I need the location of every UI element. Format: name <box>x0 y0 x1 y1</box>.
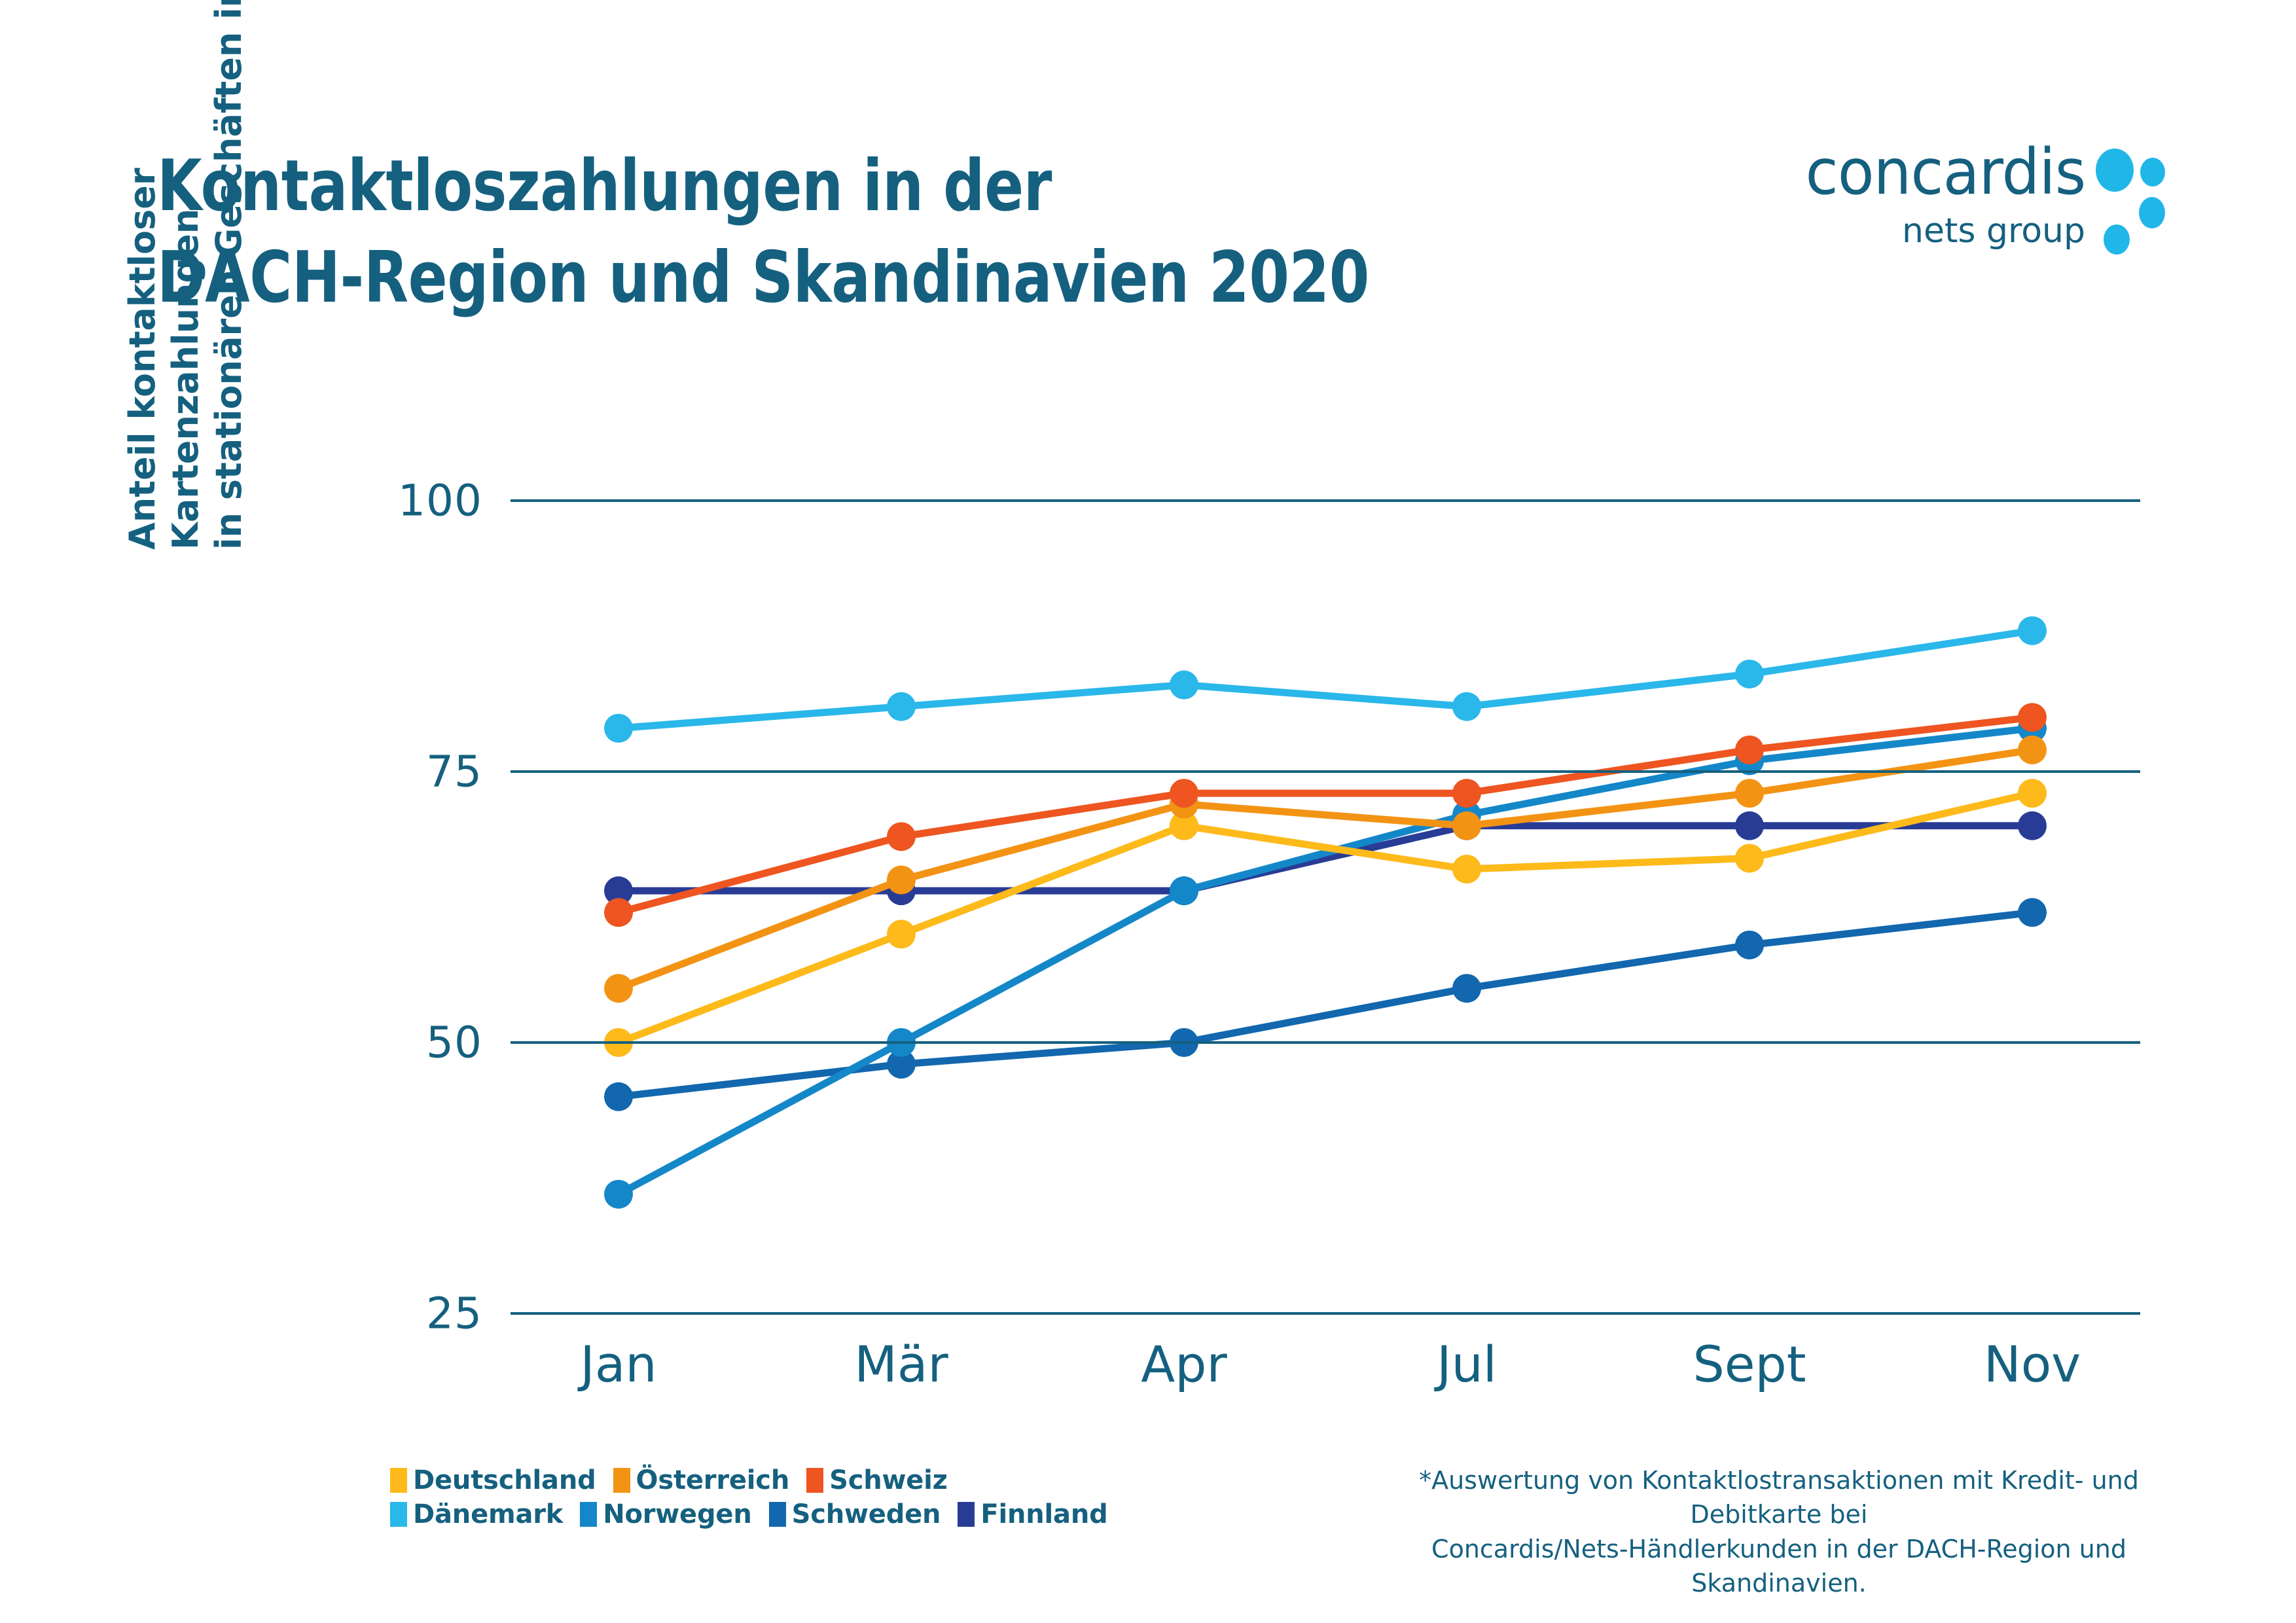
legend-label: Dänemark <box>413 1499 563 1529</box>
data-point <box>887 692 916 721</box>
series-line-schweden <box>619 912 2032 1097</box>
data-point <box>887 822 916 851</box>
y-tick-label: 100 <box>398 476 482 526</box>
series-dänemark <box>604 616 2047 743</box>
legend-item-dänemark[interactable]: Dänemark <box>390 1499 563 1529</box>
x-tick-label: Nov <box>1984 1335 2081 1393</box>
y-tick-label: 25 <box>426 1289 482 1339</box>
legend-swatch-icon <box>769 1502 786 1527</box>
data-point <box>604 898 633 927</box>
line-chart: Anteil kontaktloser Kartenzahlungen in s… <box>0 0 2296 1623</box>
x-tick-label: Sept <box>1693 1335 1806 1393</box>
footnote: *Auswertung von Kontaktlostransaktionen … <box>1393 1463 2165 1601</box>
legend-item-norwegen[interactable]: Norwegen <box>580 1499 751 1529</box>
series-line-dänemark <box>619 631 2032 728</box>
legend-item-deutschland[interactable]: Deutschland <box>390 1465 596 1495</box>
gridline-75 <box>511 770 2140 773</box>
legend-swatch-icon <box>613 1468 630 1493</box>
legend-swatch-icon <box>806 1468 823 1493</box>
data-point <box>2018 616 2047 645</box>
data-point <box>2018 703 2047 732</box>
legend-item-schweden[interactable]: Schweden <box>769 1499 941 1529</box>
y-tick-label: 75 <box>426 747 482 797</box>
y-axis-title: Anteil kontaktloser Kartenzahlungen in s… <box>121 0 206 550</box>
data-point <box>1735 811 1764 840</box>
plot-area <box>511 501 2140 1313</box>
data-point <box>2018 811 2047 840</box>
gridline-50 <box>511 1041 2140 1044</box>
legend-item-schweiz[interactable]: Schweiz <box>806 1465 948 1495</box>
data-point <box>604 714 633 743</box>
data-point <box>2018 898 2047 927</box>
data-point <box>887 919 916 948</box>
chart-legend: DeutschlandÖsterreichSchweiz DänemarkNor… <box>390 1463 1110 1531</box>
legend-label: Norwegen <box>603 1499 751 1529</box>
legend-item-finnland[interactable]: Finnland <box>958 1499 1107 1529</box>
series-line-deutschland <box>619 793 2032 1043</box>
legend-swatch-icon <box>390 1502 407 1527</box>
legend-label: Schweiz <box>829 1465 948 1495</box>
legend-label: Deutschland <box>413 1465 596 1495</box>
data-point <box>1170 876 1198 905</box>
legend-item-österreich[interactable]: Österreich <box>613 1465 790 1495</box>
data-point <box>2018 779 2047 808</box>
data-point <box>1735 844 1764 872</box>
data-point <box>1452 811 1481 840</box>
gridline-25 <box>511 1312 2140 1315</box>
data-point <box>887 866 916 895</box>
data-point <box>1452 779 1481 808</box>
legend-swatch-icon <box>958 1502 975 1527</box>
data-point <box>604 974 633 1003</box>
x-axis-tick-labels: JanMärAprJulSeptNov <box>511 1335 2140 1407</box>
legend-label: Schweden <box>792 1499 941 1529</box>
series-schweden <box>604 898 2047 1111</box>
data-point <box>1735 736 1764 764</box>
data-point <box>1452 692 1481 721</box>
data-point <box>2018 736 2047 764</box>
data-point <box>604 1180 633 1209</box>
y-tick-label: 50 <box>426 1018 482 1068</box>
legend-label: Österreich <box>636 1465 790 1495</box>
data-point <box>1735 931 1764 959</box>
series-norwegen <box>604 714 2047 1209</box>
data-point <box>1170 779 1198 808</box>
data-point <box>1735 660 1764 688</box>
series-layer <box>511 501 2140 1313</box>
data-point <box>1735 779 1764 808</box>
series-line-österreich <box>619 750 2032 988</box>
x-tick-label: Jul <box>1437 1335 1497 1393</box>
legend-row: DänemarkNorwegenSchwedenFinnland <box>390 1497 1110 1531</box>
y-axis-tick-labels: 100755025 <box>367 501 484 1313</box>
x-tick-label: Jan <box>580 1335 656 1393</box>
legend-row: DeutschlandÖsterreichSchweiz <box>390 1463 1110 1497</box>
data-point <box>1452 855 1481 883</box>
gridline-100 <box>511 499 2140 502</box>
legend-label: Finnland <box>980 1499 1107 1529</box>
x-tick-label: Mär <box>854 1335 948 1393</box>
legend-swatch-icon <box>390 1468 407 1493</box>
legend-swatch-icon <box>580 1502 597 1527</box>
data-point <box>1170 671 1198 700</box>
x-tick-label: Apr <box>1141 1335 1227 1393</box>
data-point <box>1452 974 1481 1003</box>
data-point <box>604 1082 633 1111</box>
